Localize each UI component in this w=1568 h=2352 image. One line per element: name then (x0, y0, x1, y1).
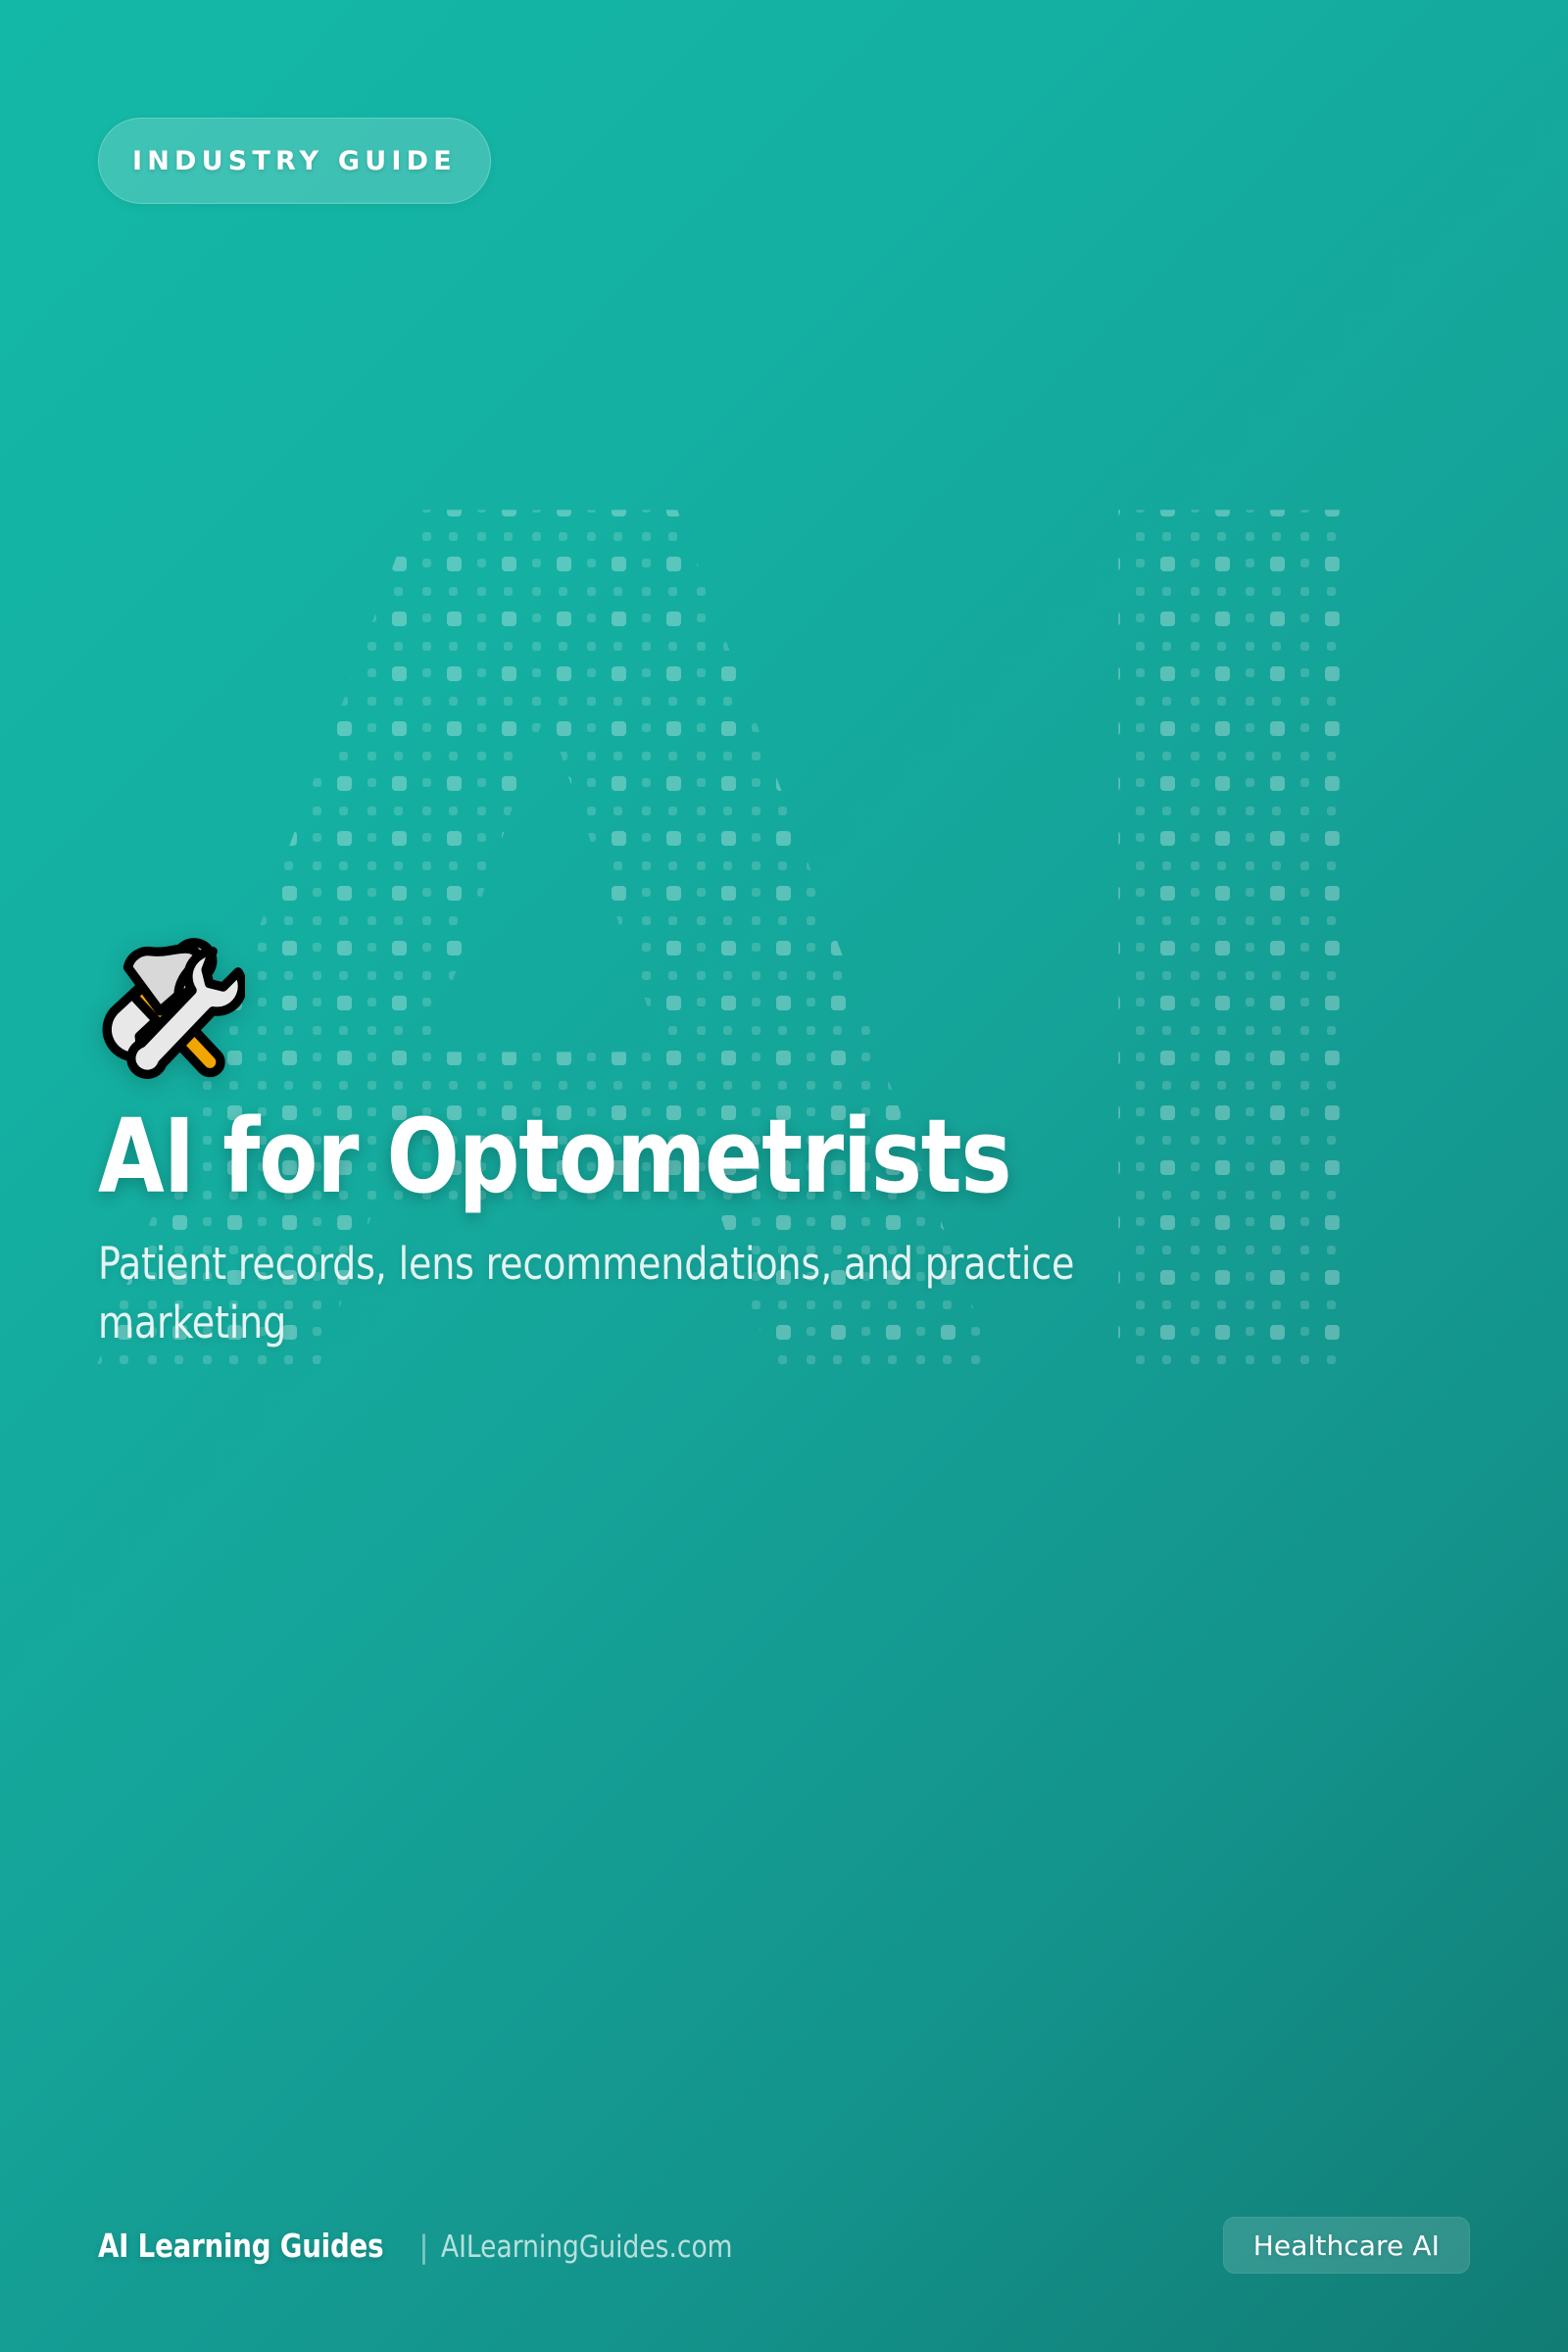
cover-page: AI INDUST (0, 0, 1568, 2352)
brand-url: AILearningGuides.com (441, 2229, 732, 2265)
kicker-label: INDUSTRY GUIDE (132, 148, 457, 174)
hammer-and-wrench-icon (98, 933, 1254, 1080)
page-title: AI for Optometrists (98, 1103, 1179, 1209)
footer: AI Learning Guides | AILearningGuides.co… (98, 2215, 1470, 2276)
brand-name: AI Learning Guides (98, 2227, 383, 2265)
category-badge: Healthcare AI (1223, 2217, 1470, 2274)
category-badge-label: Healthcare AI (1253, 2229, 1440, 2262)
hero-block: AI for Optometrists Patient records, len… (98, 933, 1254, 1353)
page-subtitle: Patient records, lens recommendations, a… (98, 1235, 1084, 1353)
footer-brand: AI Learning Guides | AILearningGuides.co… (98, 2227, 748, 2265)
footer-separator: | (418, 2229, 428, 2265)
industry-guide-badge: INDUSTRY GUIDE (98, 118, 491, 204)
